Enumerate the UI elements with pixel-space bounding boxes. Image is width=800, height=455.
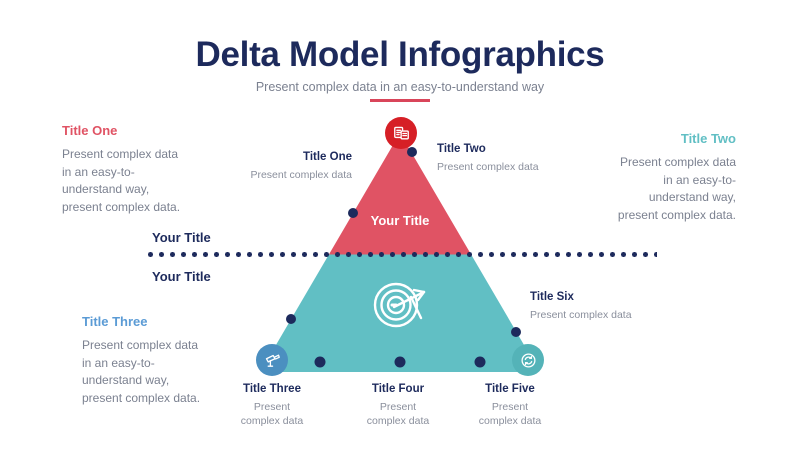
callout-title-two: Title Two Present complex data	[437, 142, 577, 174]
edge-dot-right-upper	[407, 147, 417, 157]
side-block-title-one: Title One Present complex data in an eas…	[62, 122, 227, 216]
divider-label-top: Your Title	[152, 229, 211, 247]
divider-label-bottom: Your Title	[152, 268, 211, 286]
callout-six-body: Present complex data	[530, 308, 670, 322]
base-dot-2	[395, 357, 406, 368]
dotted-divider	[145, 252, 657, 257]
callout-six-title: Title Six	[530, 290, 670, 305]
side-block-two-title: Title Two	[600, 130, 736, 148]
recycle-sync-icon	[520, 352, 537, 369]
callout-title-five: Title Five Present complex data	[458, 382, 562, 428]
document-chart-icon	[393, 125, 410, 142]
side-block-two-body: Present complex data in an easy-to- unde…	[600, 154, 736, 224]
base-dot-3	[475, 357, 486, 368]
edge-dot-right-lower	[511, 327, 521, 337]
callout-five-title: Title Five	[458, 382, 562, 397]
base-dot-1	[315, 357, 326, 368]
triangle-center-label: Your Title	[345, 212, 455, 230]
callout-one-body: Present complex data	[222, 168, 352, 182]
callout-three-title: Title Three	[220, 382, 324, 397]
callout-four-body: Present complex data	[346, 400, 450, 428]
callout-title-one: Title One Present complex data	[222, 150, 352, 182]
callout-two-body: Present complex data	[437, 160, 577, 174]
telescope-icon	[264, 352, 281, 369]
node-apex[interactable]	[385, 117, 417, 149]
callout-title-three: Title Three Present complex data	[220, 382, 324, 428]
edge-dot-left-lower	[286, 314, 296, 324]
side-block-three-title: Title Three	[82, 313, 257, 331]
callout-two-title: Title Two	[437, 142, 577, 157]
callout-title-six: Title Six Present complex data	[530, 290, 670, 322]
callout-five-body: Present complex data	[458, 400, 562, 428]
side-block-one-title: Title One	[62, 122, 227, 140]
callout-four-title: Title Four	[346, 382, 450, 397]
infographic-slide: Delta Model Infographics Present complex…	[0, 0, 800, 450]
callout-title-four: Title Four Present complex data	[346, 382, 450, 428]
callout-one-title: Title One	[222, 150, 352, 165]
side-block-one-body: Present complex data in an easy-to- unde…	[62, 146, 227, 216]
node-bottom-right[interactable]	[512, 344, 544, 376]
side-block-title-two: Title Two Present complex data in an eas…	[600, 130, 736, 224]
node-bottom-left[interactable]	[256, 344, 288, 376]
callout-three-body: Present complex data	[220, 400, 324, 428]
